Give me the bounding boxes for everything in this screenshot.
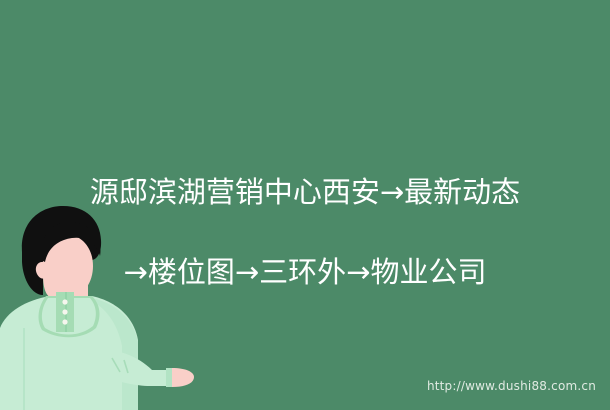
- headline-line-2: →楼位图→三环外→物业公司: [0, 252, 610, 292]
- watermark-url: http://www.dushi88.com.cn: [427, 379, 596, 393]
- promo-banner: 源邸滨湖营销中心西安→最新动态 →楼位图→三环外→物业公司 http://www…: [0, 0, 610, 410]
- banner-headline: 源邸滨湖营销中心西安→最新动态 →楼位图→三环外→物业公司: [0, 132, 610, 332]
- headline-line-1: 源邸滨湖营销中心西安→最新动态: [0, 172, 610, 212]
